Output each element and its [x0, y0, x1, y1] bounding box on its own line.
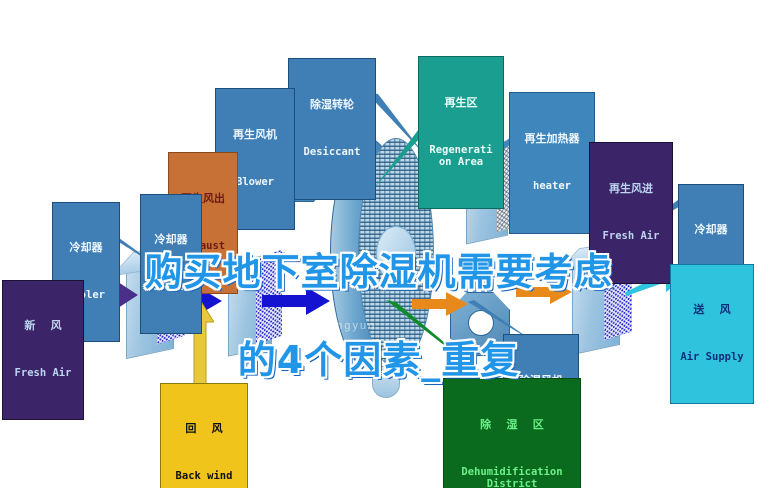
label-regen-heater-cn: 再生加热器 — [512, 133, 592, 145]
label-air-supply-en: Air Supply — [673, 352, 751, 364]
label-regeneration-area[interactable]: 再生区 Regenerati on Area — [418, 56, 504, 209]
label-back-wind-cn: 回 风 — [163, 423, 245, 435]
label-regen-heater-en: heater — [512, 181, 592, 193]
label-regen-blower-cn: 再生风机 — [218, 129, 292, 141]
label-dehumidification-district-cn: 除 湿 区 — [446, 419, 578, 431]
label-dehumidification-district[interactable]: 除 湿 区 Dehumidification District — [443, 378, 581, 488]
label-regeneration-area-en: Regenerati on Area — [421, 145, 501, 169]
label-regen-fresh-air[interactable]: 再生风进 Fresh Air — [589, 142, 673, 284]
diagram-canvas: 除湿转轮 Desiccant 再生风机 Blower 再生区 Regenerat… — [0, 0, 757, 488]
label-fresh-air-cn: 新 风 — [5, 320, 81, 332]
label-cooler-left-cn: 冷却器 — [55, 242, 117, 254]
label-cooler-mid-cn: 冷却器 — [143, 234, 199, 246]
label-cooler-mid-en: Cooler — [143, 282, 199, 294]
label-back-wind-en: Back wind — [163, 471, 245, 483]
label-dehumidification-district-en: Dehumidification District — [446, 467, 578, 488]
label-back-wind[interactable]: 回 风 Back wind — [160, 383, 248, 488]
label-regeneration-area-cn: 再生区 — [421, 97, 501, 109]
desiccant-rotor-hub — [376, 226, 416, 282]
label-fresh-air-en: Fresh Air — [5, 368, 81, 380]
label-cooler-mid[interactable]: 冷却器 Cooler — [140, 194, 202, 334]
leader-dehumidification-district — [386, 300, 496, 386]
label-regen-heater[interactable]: 再生加热器 heater — [509, 92, 595, 234]
label-desiccant-en: Desiccant — [291, 147, 373, 159]
label-air-supply-cn: 送 风 — [673, 304, 751, 316]
label-regen-fresh-air-cn: 再生风进 — [592, 183, 670, 195]
label-cooler-right-cn: 冷却器 — [681, 224, 741, 236]
label-desiccant-cn: 除湿转轮 — [291, 99, 373, 111]
watermark: xinhangyun — [300, 320, 376, 332]
label-desiccant[interactable]: 除湿转轮 Desiccant — [288, 58, 376, 200]
label-air-supply[interactable]: 送 风 Air Supply — [670, 264, 754, 404]
label-regen-fresh-air-en: Fresh Air — [592, 231, 670, 243]
label-fresh-air[interactable]: 新 风 Fresh Air — [2, 280, 84, 420]
process-arrow-2 — [262, 287, 330, 315]
